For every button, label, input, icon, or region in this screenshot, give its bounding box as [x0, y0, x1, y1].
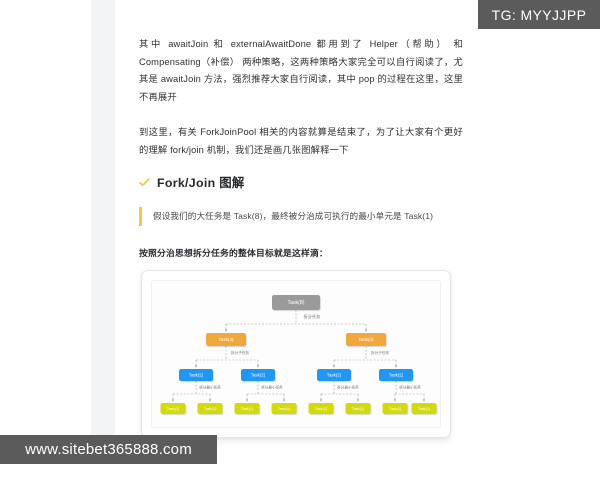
telegram-watermark: TG: MYYJJPP — [478, 0, 600, 29]
tree-node-level3[interactable]: Task(1) — [198, 403, 224, 415]
diagram-canvas: 拆分任务拆分子任务拆分子任务拆分最小任务拆分最小任务拆分最小任务拆分最小任务 T… — [151, 280, 441, 428]
diagram-lead-text: 按照分治思想拆分任务的整体目标就是这样滴： — [139, 246, 463, 259]
tree-node-level2[interactable]: Task(2) — [179, 369, 214, 382]
section-heading: Fork/Join 图解 — [139, 173, 463, 191]
tree-node-label: Task(4) — [358, 337, 374, 342]
tree-node-label: Task(1) — [315, 407, 328, 411]
tree-node-label: Task(2) — [189, 372, 204, 377]
tree-node-label: Task(2) — [327, 372, 342, 377]
edge-label: 拆分最小任务 — [199, 384, 221, 389]
section-heading-label: Fork/Join 图解 — [157, 173, 245, 191]
tree-node-label: Task(1) — [167, 407, 180, 411]
blockquote-text: 假设我们的大任务是 Task(8)，最终被分治成可执行的最小单元是 Task(1… — [153, 209, 463, 224]
diagram-nodes: Task(8)Task(4)Task(4)Task(2)Task(2)Task(… — [161, 295, 438, 415]
diagram-card: 拆分任务拆分子任务拆分子任务拆分最小任务拆分最小任务拆分最小任务拆分最小任务 T… — [141, 270, 451, 438]
check-icon — [139, 177, 150, 188]
blockquote: 假设我们的大任务是 Task(8)，最终被分治成可执行的最小单元是 Task(1… — [139, 207, 463, 226]
tree-node-level3[interactable]: Task(1) — [412, 403, 438, 415]
paragraph-awaitjoin: 其中 awaitJoin 和 externalAwaitDone 都用到了 He… — [139, 36, 463, 106]
edge-label: 拆分任务 — [304, 313, 322, 320]
tree-node-level2[interactable]: Task(2) — [379, 369, 414, 382]
article-content: 其中 awaitJoin 和 externalAwaitDone 都用到了 He… — [139, 0, 463, 455]
screenshot-root: 其中 awaitJoin 和 externalAwaitDone 都用到了 He… — [0, 0, 600, 480]
tree-node-label: Task(1) — [241, 407, 254, 411]
tree-node-level3[interactable]: Task(1) — [161, 403, 187, 415]
tree-node-label: Task(1) — [418, 407, 431, 411]
tree-node-level3[interactable]: Task(1) — [309, 403, 335, 415]
edge-label: 拆分子任务 — [371, 350, 389, 355]
tree-node-level0[interactable]: Task(8) — [272, 295, 321, 311]
tree-node-level2[interactable]: Task(2) — [317, 369, 352, 382]
tree-node-label: Task(2) — [251, 372, 266, 377]
tree-node-label: Task(1) — [278, 407, 291, 411]
tree-node-label: Task(1) — [204, 407, 217, 411]
edge-label: 拆分最小任务 — [337, 384, 359, 389]
tree-node-label: Task(1) — [352, 407, 365, 411]
tree-node-label: Task(4) — [218, 337, 234, 342]
tree-node-level1[interactable]: Task(4) — [346, 333, 387, 347]
site-watermark: www.sitebet365888.com — [0, 435, 217, 464]
edge-label: 拆分最小任务 — [261, 384, 283, 389]
tree-node-level3[interactable]: Task(1) — [346, 403, 372, 415]
tree-node-level2[interactable]: Task(2) — [241, 369, 276, 382]
tree-node-level3[interactable]: Task(1) — [272, 403, 298, 415]
tree-node-label: Task(1) — [389, 407, 402, 411]
tree-node-label: Task(2) — [389, 372, 404, 377]
fork-join-tree-diagram: 拆分任务拆分子任务拆分子任务拆分最小任务拆分最小任务拆分最小任务拆分最小任务 T… — [152, 281, 440, 427]
tree-node-level3[interactable]: Task(1) — [383, 403, 409, 415]
tree-node-label: Task(8) — [287, 300, 304, 306]
paragraph-forkjoinpool: 到这里，有关 ForkJoinPool 相关的内容就算是结束了，为了让大家有个更… — [139, 124, 463, 159]
edge-label: 拆分子任务 — [231, 350, 249, 355]
tree-node-level3[interactable]: Task(1) — [235, 403, 261, 415]
tree-node-level1[interactable]: Task(4) — [206, 333, 247, 347]
edge-label: 拆分最小任务 — [399, 384, 421, 389]
